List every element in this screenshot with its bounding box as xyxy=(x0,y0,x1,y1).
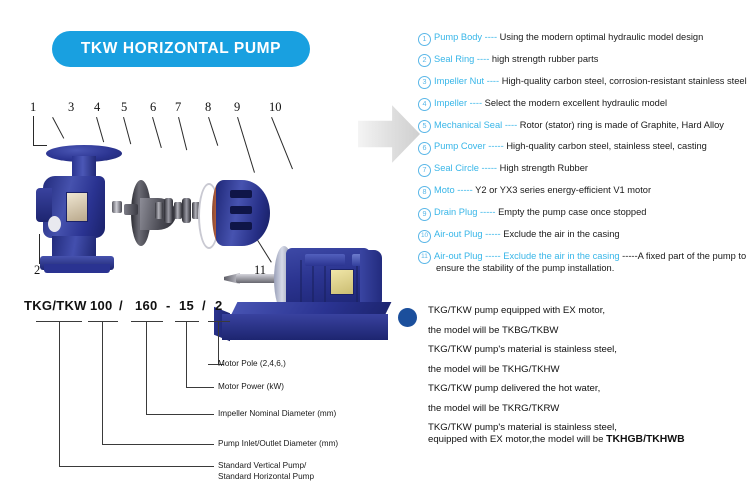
feature-desc-8: Y2 or YX3 series energy-efficient V1 mot… xyxy=(475,185,651,195)
feature-desc-9: Empty the pump case once stopped xyxy=(498,207,646,217)
exploded-pump-diagram: 1 2 3 4 5 6 7 8 9 10 11 xyxy=(0,88,400,288)
model-label-motor-power: Motor Power (kW) xyxy=(218,381,284,393)
model-code-pole: 2 xyxy=(215,298,223,313)
feature-name-3: Impeller Nut xyxy=(434,76,484,86)
mechanical-seal-part-4 xyxy=(182,198,191,223)
model-code-series: TKG/TKW xyxy=(24,298,87,313)
model-code-impeller: 160 xyxy=(135,298,158,313)
variant-line-5: TKG/TKW pump delivered the hot water, xyxy=(428,384,748,394)
feature-item-6: 6 Pump Cover ----- High-quality carbon s… xyxy=(418,141,754,155)
feature-desc-6: High-quality carbon steel, stainless ste… xyxy=(506,141,707,151)
feature-number-11: 11 xyxy=(418,251,431,264)
feature-list: 1 Pump Body ---- Using the modern optima… xyxy=(418,32,754,283)
leader-line-6 xyxy=(152,117,162,148)
drop-line-power xyxy=(186,321,187,387)
feature-name-8: Moto xyxy=(434,185,455,195)
model-variants-block: TKG/TKW pump equipped with EX motor, the… xyxy=(398,306,748,456)
feature-number-3: 3 xyxy=(418,76,431,89)
code-underline-2 xyxy=(88,321,118,322)
feature-item-4: 4 Impeller ---- Select the modern excell… xyxy=(418,98,754,112)
leader-line-5 xyxy=(123,117,131,144)
feature-number-9: 9 xyxy=(418,208,431,221)
impeller-nut-part xyxy=(112,201,122,213)
feature-number-1: 1 xyxy=(418,33,431,46)
code-underline-3 xyxy=(131,321,163,322)
pump-body-bearing-window xyxy=(66,192,88,222)
variant-line-7: TKG/TKW pump's material is stainless ste… xyxy=(428,423,748,433)
feature-dash-6: ----- xyxy=(488,141,503,151)
callout-4: 4 xyxy=(94,100,100,115)
model-code-inlet: 100 xyxy=(90,298,113,313)
feature-item-5: 5 Mechanical Seal ---- Rotor (stator) ri… xyxy=(418,120,754,134)
leader-line-7 xyxy=(178,117,187,150)
drop-line-impeller xyxy=(146,321,147,414)
feature-desc-5: Rotor (stator) ring is made of Graphite,… xyxy=(520,120,724,130)
callout-3: 3 xyxy=(68,100,74,115)
feature-desc-10: Exclude the air in the casing xyxy=(503,229,619,239)
model-designation-diagram: TKG/TKW 100 / 160 - 15 / 2 Motor Pole (2… xyxy=(18,298,398,498)
mechanical-seal-part-3 xyxy=(174,202,182,219)
model-code-slash-1: / xyxy=(119,298,123,313)
feature-dash-1: ---- xyxy=(485,32,497,42)
feature-item-3: 3 Impeller Nut ---- High-quality carbon … xyxy=(418,76,754,90)
model-label-standard-horiz: Standard Horizontal Pump xyxy=(218,471,314,483)
feature-name-9: Drain Plug xyxy=(434,207,477,217)
pump-cover-slot-2 xyxy=(230,206,252,214)
page-title-banner: TKW HORIZONTAL PUMP xyxy=(52,31,310,67)
variant-line-8-model: TKHGB/TKHWB xyxy=(606,434,685,445)
callout-1: 1 xyxy=(30,100,36,115)
feature-dash-7: ----- xyxy=(482,163,497,173)
pump-body-foot-base xyxy=(44,264,110,273)
feature-name-7: Seal Circle xyxy=(434,163,479,173)
page-title: TKW HORIZONTAL PUMP xyxy=(81,40,281,58)
feature-desc-3: High-quality carbon steel, corrosion-res… xyxy=(502,76,747,86)
variant-line-3: TKG/TKW pump's material is stainless ste… xyxy=(428,345,748,355)
elbow-impeller xyxy=(146,414,214,415)
callout-8: 8 xyxy=(205,100,211,115)
mechanical-seal-part-2 xyxy=(164,198,173,223)
feature-name-2: Seal Ring xyxy=(434,54,474,64)
variant-line-6: the model will be TKRG/TKRW xyxy=(428,404,748,414)
feature-number-6: 6 xyxy=(418,142,431,155)
pump-spec-page: TKW HORIZONTAL PUMP 1 2 3 4 5 6 7 8 9 10… xyxy=(0,0,756,500)
variant-line-8-text: equipped with EX motor,the model will be xyxy=(428,434,606,445)
callout-7: 7 xyxy=(175,100,181,115)
feature-number-8: 8 xyxy=(418,186,431,199)
pump-cover-slot-3 xyxy=(230,222,252,230)
feature-dash-10: ----- xyxy=(485,229,500,239)
feature-item-11: 11 Air-out Plug ----- Exclude the air in… xyxy=(418,251,754,274)
code-underline-5 xyxy=(208,321,230,322)
feature-cont-11: ensure the stability of the pump install… xyxy=(436,263,754,275)
variant-line-4: the model will be TKHG/TKHW xyxy=(428,365,748,375)
impeller-shaft-stub xyxy=(124,204,138,215)
feature-name-5: Mechanical Seal xyxy=(434,120,502,130)
feature-desc-11: Exclude the air in the casing xyxy=(503,251,619,261)
leader-line-3 xyxy=(52,117,64,139)
feature-number-5: 5 xyxy=(418,120,431,133)
feature-tail-11: -----A fixed part of the pump to xyxy=(622,251,746,261)
feature-item-9: 9 Drain Plug ----- Empty the pump case o… xyxy=(418,207,754,221)
feature-name-11: Air-out Plug xyxy=(434,251,483,261)
feature-name-6: Pump Cover xyxy=(434,141,486,151)
callout-10: 10 xyxy=(269,100,282,115)
feature-name-4: Impeller xyxy=(434,98,467,108)
motor-terminal-box xyxy=(305,254,345,266)
feature-dash-2: ---- xyxy=(477,54,489,64)
model-code-power: 15 xyxy=(179,298,194,313)
leader-line-1 xyxy=(33,116,34,146)
variant-line-1: TKG/TKW pump equipped with EX motor, xyxy=(428,306,748,316)
leader-line-1b xyxy=(33,145,47,146)
feature-desc-7: High strength Rubber xyxy=(500,163,588,173)
feature-number-2: 2 xyxy=(418,54,431,67)
feature-desc-1: Using the modern optimal hydraulic model… xyxy=(500,32,704,42)
feature-name-1: Pump Body xyxy=(434,32,482,42)
feature-dash-11: ----- xyxy=(485,251,500,261)
leader-line-8 xyxy=(208,117,218,146)
feature-name-10: Air-out Plug xyxy=(434,229,483,239)
feature-number-7: 7 xyxy=(418,164,431,177)
model-label-inlet-dia: Pump Inlet/Outlet Diameter (mm) xyxy=(218,438,338,450)
feature-item-8: 8 Moto ----- Y2 or YX3 series energy-eff… xyxy=(418,185,754,199)
feature-number-10: 10 xyxy=(418,230,431,243)
leader-line-11 xyxy=(257,240,272,263)
feature-dash-9: ----- xyxy=(480,207,495,217)
feature-dash-8: ----- xyxy=(457,185,472,195)
elbow-inlet xyxy=(102,444,214,445)
leader-line-10 xyxy=(271,117,293,169)
elbow-series xyxy=(59,466,214,467)
feature-item-2: 2 Seal Ring ---- high strength rubber pa… xyxy=(418,54,754,68)
feature-dash-3: ---- xyxy=(487,76,499,86)
callout-6: 6 xyxy=(150,100,156,115)
code-underline-4 xyxy=(175,321,199,322)
variant-line-8: equipped with EX motor,the model will be… xyxy=(428,435,748,446)
bullet-icon xyxy=(398,308,417,327)
model-code-slash-2: / xyxy=(202,298,206,313)
leader-line-4 xyxy=(96,117,104,142)
model-code-dash: - xyxy=(166,298,171,313)
callout-9: 9 xyxy=(234,100,240,115)
drain-plug-hole xyxy=(48,216,61,232)
leader-line-9 xyxy=(237,117,255,173)
model-label-motor-pole: Motor Pole (2,4,6,) xyxy=(218,358,286,370)
feature-dash-4: ---- xyxy=(470,98,482,108)
feature-item-7: 7 Seal Circle ----- High strength Rubber xyxy=(418,163,754,177)
feature-desc-4: Select the modern excellent hydraulic mo… xyxy=(485,98,667,108)
feature-item-10: 10 Air-out Plug ----- Exclude the air in… xyxy=(418,229,754,243)
drop-line-inlet xyxy=(102,321,103,444)
feature-desc-2: high strength rubber parts xyxy=(492,54,598,64)
feature-item-1: 1 Pump Body ---- Using the modern optima… xyxy=(418,32,754,46)
feature-number-4: 4 xyxy=(418,98,431,111)
model-label-impeller-dia: Impeller Nominal Diameter (mm) xyxy=(218,408,336,420)
drop-line-series xyxy=(59,321,60,466)
motor-nameplate xyxy=(330,269,354,295)
elbow-power xyxy=(186,387,214,388)
feature-dash-5: ---- xyxy=(505,120,517,130)
variant-line-2: the model will be TKBG/TKBW xyxy=(428,326,748,336)
callout-5: 5 xyxy=(121,100,127,115)
mechanical-seal-part-1 xyxy=(155,202,163,219)
pump-cover-slot-1 xyxy=(230,190,252,198)
